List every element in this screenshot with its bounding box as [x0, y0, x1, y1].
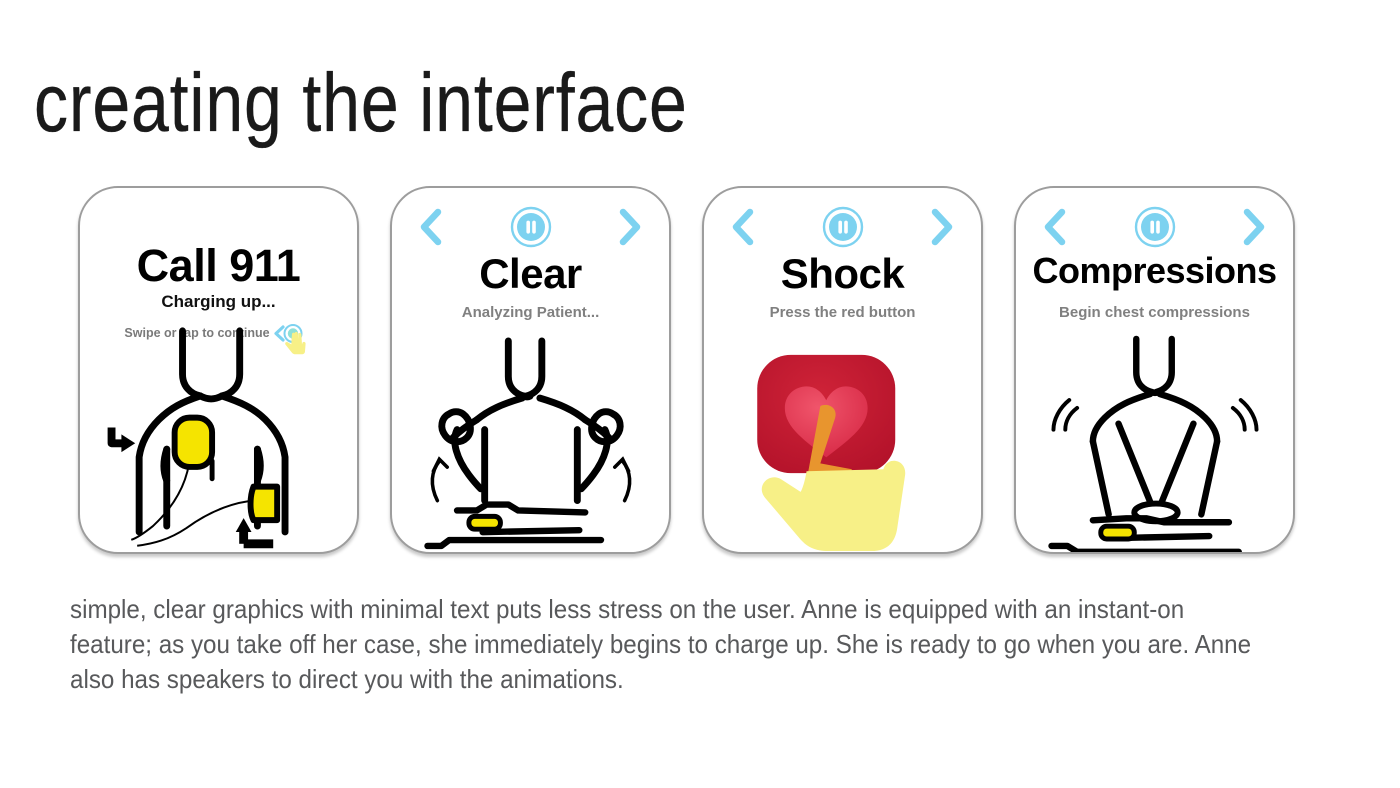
- interface-card-row: Call 911 Charging up... Swipe or tap to …: [78, 186, 1328, 554]
- page-caption: simple, clear graphics with minimal text…: [70, 592, 1270, 697]
- illustration-torso-with-aed-pads: [80, 323, 357, 552]
- chevron-right-icon[interactable]: [929, 207, 955, 247]
- chevron-left-icon[interactable]: [418, 207, 444, 247]
- card-subtitle: Charging up...: [80, 292, 357, 312]
- card-shock[interactable]: Shock Press the red button: [702, 186, 983, 554]
- card-subtitle: Press the red button: [704, 304, 981, 321]
- pause-button-icon[interactable]: [1134, 206, 1176, 248]
- card-call-911[interactable]: Call 911 Charging up... Swipe or tap to …: [78, 186, 359, 554]
- illustration-hands-off-patient: [392, 335, 669, 552]
- card-nav-shock: [704, 204, 981, 250]
- card-nav-compressions: [1016, 204, 1293, 250]
- pause-button-icon[interactable]: [822, 206, 864, 248]
- card-heading: Compressions: [1016, 250, 1293, 292]
- card-heading: Shock: [704, 250, 981, 298]
- illustration-red-shock-button-with-hand[interactable]: [704, 347, 981, 552]
- card-heading: Call 911: [80, 240, 357, 292]
- chevron-right-icon[interactable]: [1241, 207, 1267, 247]
- card-heading: Clear: [392, 250, 669, 298]
- chevron-right-icon[interactable]: [617, 207, 643, 247]
- page-title: creating the interface: [34, 58, 688, 148]
- card-subtitle: Analyzing Patient...: [392, 304, 669, 321]
- pause-button-icon[interactable]: [510, 206, 552, 248]
- card-nav-clear: [392, 204, 669, 250]
- chevron-left-icon[interactable]: [730, 207, 756, 247]
- illustration-chest-compressions: [1016, 333, 1293, 552]
- card-compressions[interactable]: Compressions Begin chest compressions: [1014, 186, 1295, 554]
- card-subtitle: Begin chest compressions: [1016, 304, 1293, 321]
- chevron-left-icon[interactable]: [1042, 207, 1068, 247]
- card-clear[interactable]: Clear Analyzing Patient...: [390, 186, 671, 554]
